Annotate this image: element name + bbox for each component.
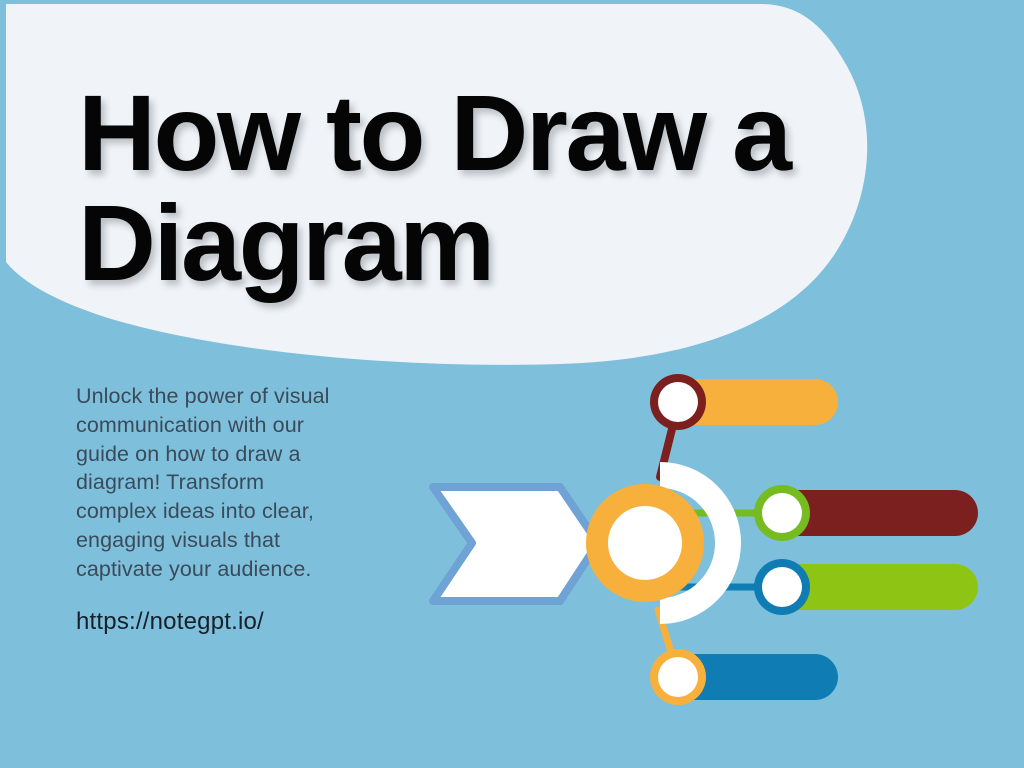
body-paragraph: Unlock the power of visual communication…	[76, 382, 344, 584]
page-title: How to Draw a Diagram	[78, 78, 838, 298]
chevron-arrow-icon	[433, 487, 598, 601]
branch-1-node-fill	[658, 382, 698, 422]
site-url-link[interactable]: https://notegpt.io/	[76, 608, 344, 636]
hub-inner-core	[608, 506, 682, 580]
branch-4-node-fill	[658, 657, 698, 697]
branch-2-node-fill	[762, 493, 802, 533]
copy-block: Unlock the power of visual communication…	[76, 382, 344, 636]
branch-3-node-fill	[762, 567, 802, 607]
radial-process-diagram	[420, 365, 990, 710]
poster-canvas: How to Draw a Diagram Unlock the power o…	[0, 0, 1024, 768]
